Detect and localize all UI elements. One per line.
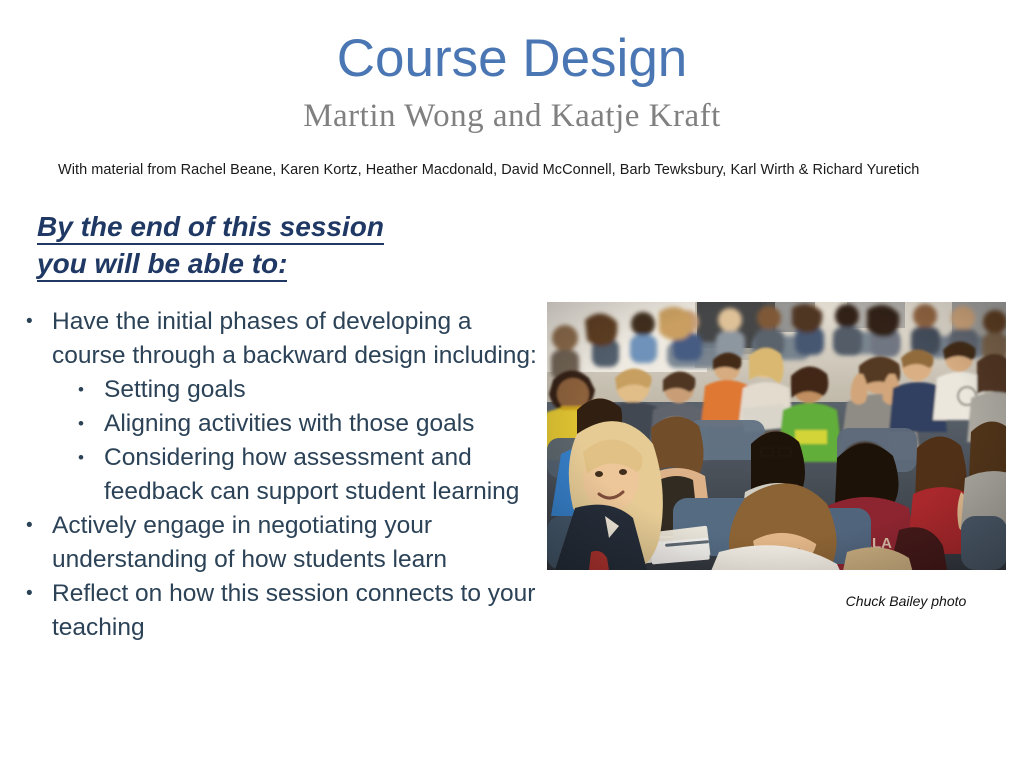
objectives-heading: By the end of this session you will be a… (37, 208, 507, 282)
classroom-photo: ULLA MAP (547, 302, 1006, 570)
title-area: Course Design Martin Wong and Kaatje Kra… (0, 0, 1024, 136)
bullet-marker-icon: • (26, 577, 52, 611)
objectives-heading-line-1: By the end of this session (37, 208, 507, 245)
objective-item: •Have the initial phases of developing a… (26, 305, 546, 373)
bullet-marker-icon: • (78, 373, 104, 407)
bullet-marker-icon: • (78, 441, 104, 475)
objective-item: •Aligning activities with those goals (26, 407, 546, 441)
bullet-marker-icon: • (78, 407, 104, 441)
objective-item-text: Actively engage in negotiating your unde… (52, 509, 546, 577)
objective-item: •Actively engage in negotiating your und… (26, 509, 546, 577)
objective-item-text: Have the initial phases of developing a … (52, 305, 546, 373)
bullet-marker-icon: • (26, 305, 52, 339)
page-title: Course Design (0, 0, 1024, 90)
slide-subtitle: Martin Wong and Kaatje Kraft (0, 90, 1024, 136)
objective-item-text: Considering how assessment and feedback … (104, 441, 546, 509)
credits-line: With material from Rachel Beane, Karen K… (58, 160, 998, 180)
objectives-list: •Have the initial phases of developing a… (26, 305, 546, 645)
objective-item: •Setting goals (26, 373, 546, 407)
objective-item-text: Aligning activities with those goals (104, 407, 546, 441)
objective-item-text: Reflect on how this session connects to … (52, 577, 546, 645)
objective-item: •Considering how assessment and feedback… (26, 441, 546, 509)
objectives-heading-line-2: you will be able to: (37, 245, 507, 282)
objective-item: •Reflect on how this session connects to… (26, 577, 546, 645)
bullet-marker-icon: • (26, 509, 52, 543)
objective-item-text: Setting goals (104, 373, 546, 407)
photo-caption: Chuck Bailey photo (806, 592, 1006, 610)
classroom-photo-image: ULLA MAP (547, 302, 1006, 570)
